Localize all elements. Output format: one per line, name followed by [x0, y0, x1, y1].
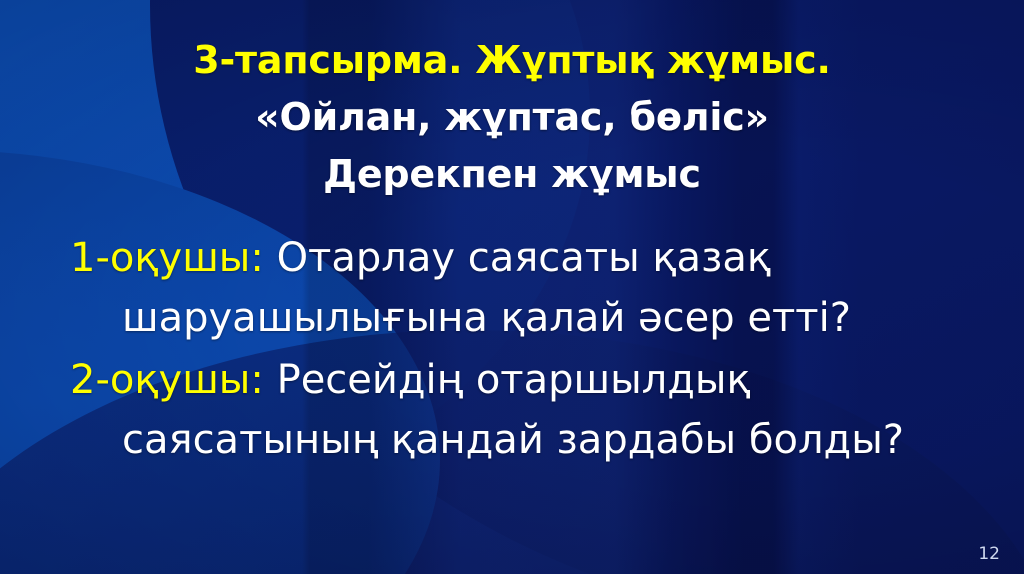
- title-line-2: «Ойлан, жұптас, бөліс»: [0, 89, 1024, 146]
- slide-content: 3-тапсырма. Жұптық жұмыс. «Ойлан, жұптас…: [0, 0, 1024, 574]
- slide-title: 3-тапсырма. Жұптық жұмыс. «Ойлан, жұптас…: [0, 32, 1024, 203]
- page-number: 12: [978, 544, 1000, 564]
- body-item-student-1: 1-оқушы: Отарлау саясаты қазақ шаруашылы…: [70, 228, 964, 348]
- title-line-3: Дерекпен жұмыс: [0, 146, 1024, 203]
- student-2-label: 2-оқушы:: [70, 357, 264, 403]
- slide-body: 1-оқушы: Отарлау саясаты қазақ шаруашылы…: [70, 228, 964, 472]
- student-1-label: 1-оқушы:: [70, 235, 264, 281]
- slide-canvas: 3-тапсырма. Жұптық жұмыс. «Ойлан, жұптас…: [0, 0, 1024, 574]
- title-line-1: 3-тапсырма. Жұптық жұмыс.: [0, 32, 1024, 89]
- body-item-student-2: 2-оқушы: Ресейдің отаршылдық саясатының …: [70, 350, 964, 470]
